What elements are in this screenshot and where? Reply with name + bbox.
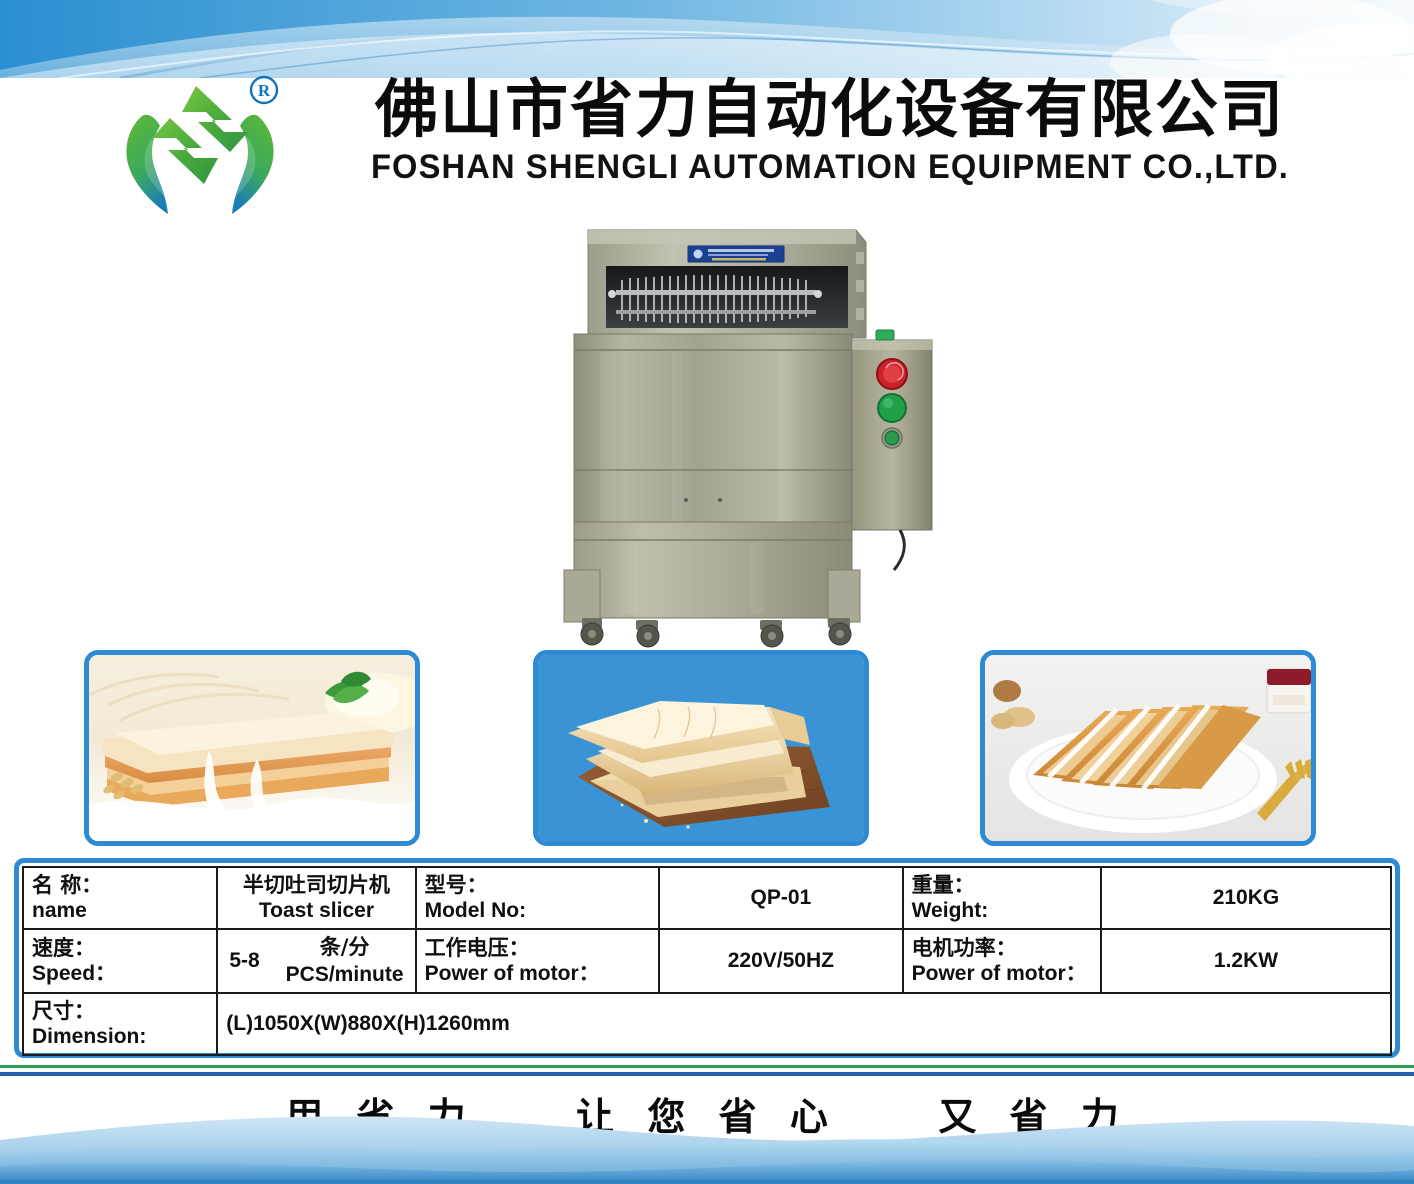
value-name-en: Toast slicer (226, 898, 406, 924)
speed-unit-en: PCS/minute (286, 961, 404, 988)
label-speed-cn: 速度： (32, 935, 208, 961)
table-row-name: 名 称： name 半切吐司切片机 Toast slicer 型号： Model… (23, 867, 1391, 929)
cell-value-product-name: 半切吐司切片机 Toast slicer (217, 867, 415, 929)
table-row-speed: 速度： Speed： 5-8 条/分 PCS/minute (23, 929, 1391, 993)
company-name-en: FOSHAN SHENGLI AUTOMATION EQUIPMENT CO.,… (321, 146, 1339, 188)
cell-value-voltage: 220V/50HZ (659, 929, 903, 993)
cell-value-dimension: (L)1050X(W)880X(H)1260mm (217, 993, 1391, 1055)
cell-label-model: 型号： Model No: (416, 867, 660, 929)
cell-value-speed: 5-8 条/分 PCS/minute (217, 929, 415, 993)
cell-value-weight: 210KG (1101, 867, 1391, 929)
value-name-cn: 半切吐司切片机 (226, 872, 406, 898)
cell-label-weight: 重量： Weight: (903, 867, 1101, 929)
cell-value-model: QP-01 (659, 867, 903, 929)
product-photo-row (0, 650, 1414, 848)
cell-label-dimension: 尺寸： Dimension: (23, 993, 217, 1055)
svg-text:R: R (258, 81, 271, 100)
label-voltage-cn: 工作电压： (425, 935, 651, 961)
cell-label-motor-power: 电机功率： Power of motor： (903, 929, 1101, 993)
photo-sandwich-bread-with-mint-and-cream (84, 650, 420, 846)
label-dimension-cn: 尺寸： (32, 998, 208, 1024)
product-spec-sheet: R 佛山市省力自动化设备有限公司 FOSHAN SHENGLI AUTOMATI… (0, 0, 1414, 1184)
label-motor-power-cn: 电机功率： (912, 935, 1092, 961)
label-dimension-en: Dimension: (32, 1024, 208, 1050)
cell-label-voltage: 工作电压： Power of motor： (416, 929, 660, 993)
speed-value: 5-8 (229, 948, 259, 974)
label-model-en: Model No: (425, 898, 651, 924)
label-weight-cn: 重量： (912, 872, 1092, 898)
cell-label-speed: 速度： Speed： (23, 929, 217, 993)
machine-photo (560, 222, 950, 652)
company-title-block: 佛山市省力自动化设备有限公司 FOSHAN SHENGLI AUTOMATION… (300, 74, 1360, 214)
specification-table: 名 称： name 半切吐司切片机 Toast slicer 型号： Model… (14, 858, 1400, 1058)
label-weight-en: Weight: (912, 898, 1092, 924)
speed-unit-cn: 条/分 (286, 934, 404, 961)
company-name-cn: 佛山市省力自动化设备有限公司 (300, 74, 1360, 146)
photo-toast-slices-on-white-plate-with-fork (980, 650, 1316, 846)
label-model-cn: 型号： (425, 872, 651, 898)
cell-value-motor-power: 1.2KW (1101, 929, 1391, 993)
label-voltage-en: Power of motor： (425, 961, 651, 987)
footer-wave-graphic (0, 1104, 1414, 1184)
label-name-en: name (32, 898, 208, 924)
cell-label-name: 名 称： name (23, 867, 217, 929)
label-motor-power-en: Power of motor： (912, 961, 1092, 987)
divider-green (0, 1065, 1414, 1068)
divider-blue (0, 1072, 1414, 1076)
company-logo: R (112, 72, 288, 220)
brand-row: R 佛山市省力自动化设备有限公司 FOSHAN SHENGLI AUTOMATI… (0, 62, 1414, 222)
table-row-dimension: 尺寸： Dimension: (L)1050X(W)880X(H)1260mm (23, 993, 1391, 1055)
label-speed-en: Speed： (32, 961, 208, 987)
label-name-cn: 名 称： (32, 872, 208, 898)
photo-thick-toast-slices-on-wooden-board (533, 650, 869, 846)
